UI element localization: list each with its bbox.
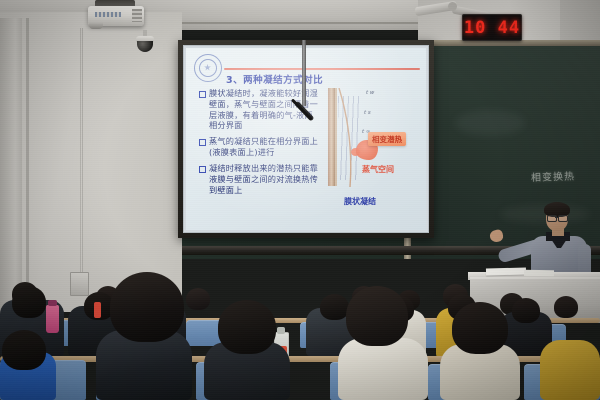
blackboard-chalk-note: 相变换热 xyxy=(531,167,590,185)
student-head xyxy=(320,294,349,320)
diagram-wall xyxy=(328,88,335,186)
student-head-foreground xyxy=(110,272,184,342)
wall-edge xyxy=(26,18,29,314)
glasses-bridge-icon xyxy=(555,217,558,218)
ceiling-fan-hub xyxy=(448,2,457,11)
student-head xyxy=(554,296,578,318)
wall-digital-clock: 10 44 xyxy=(462,14,522,41)
bottle-cap[interactable] xyxy=(48,300,57,306)
bullet-text: 蒸气的凝结只能在相分界面上(液膜表面上)进行 xyxy=(209,136,319,158)
diagram-axis-label: t w xyxy=(366,90,374,96)
diagram-latent-heat-tag: 相变潜热 xyxy=(368,132,406,146)
student-head xyxy=(12,286,46,318)
red-bottle[interactable] xyxy=(94,302,101,318)
clock-time-display: 10 44 xyxy=(464,18,520,38)
glasses-icon xyxy=(558,215,568,222)
university-seal-icon xyxy=(194,54,222,82)
student-head xyxy=(218,300,276,354)
diagram-axis-label: t s xyxy=(364,110,371,116)
bullet-square-icon xyxy=(199,166,206,173)
projector-port-panel xyxy=(95,12,121,17)
wall-conduit xyxy=(80,28,83,278)
slide-rule xyxy=(224,68,420,70)
bullet-square-icon xyxy=(199,91,206,98)
podium-paper xyxy=(524,270,554,277)
pink-water-bottle[interactable] xyxy=(46,305,59,333)
lecture-hall-photo: 相变换热 10 44 3、两种凝结方式对比 膜状凝结时，凝液能较好润湿壁面，蒸气… xyxy=(0,0,600,400)
wall-pilaster xyxy=(0,18,22,318)
slide-diagram: t w t s t ∞ 相变潜热 蒸气空间 膜状凝结 xyxy=(320,84,420,214)
bullet-square-icon xyxy=(199,139,206,146)
presentation-slide: 3、两种凝结方式对比 膜状凝结时，凝液能较好润湿壁面，蒸气与壁面之间隔着一层液膜… xyxy=(186,48,426,230)
projector-vent xyxy=(132,9,142,22)
diagram-caption: 膜状凝结 xyxy=(344,196,376,207)
wall-outlet-box[interactable] xyxy=(70,272,89,296)
bottle-cap[interactable] xyxy=(277,327,285,334)
list-item: 凝结时释放出来的潜热只能靠液膜与壁面之间的对流换热传到壁面上 xyxy=(199,163,319,195)
student-head xyxy=(186,288,210,310)
slide-title: 3、两种凝结方式对比 xyxy=(226,72,323,86)
list-item: 蒸气的凝结只能在相分界面上(液膜表面上)进行 xyxy=(199,136,319,158)
bullet-text: 凝结时释放出来的潜热只能靠液膜与壁面之间的对流换热传到壁面上 xyxy=(209,163,319,195)
student-head xyxy=(512,298,540,323)
seal-star-icon xyxy=(204,64,211,71)
podium-paper xyxy=(486,267,526,275)
student-torso-yellow xyxy=(540,340,600,400)
student-head xyxy=(2,330,46,370)
pointer-stick xyxy=(302,40,306,106)
blackboard-right xyxy=(410,44,600,259)
diagram-vapor-label: 蒸气空间 xyxy=(362,164,394,175)
student-head-foreground xyxy=(346,286,408,346)
chalk-smudge xyxy=(455,110,525,136)
student-head xyxy=(452,302,508,354)
student-torso-white-hoodie xyxy=(338,338,428,400)
projector-lens xyxy=(89,22,103,29)
